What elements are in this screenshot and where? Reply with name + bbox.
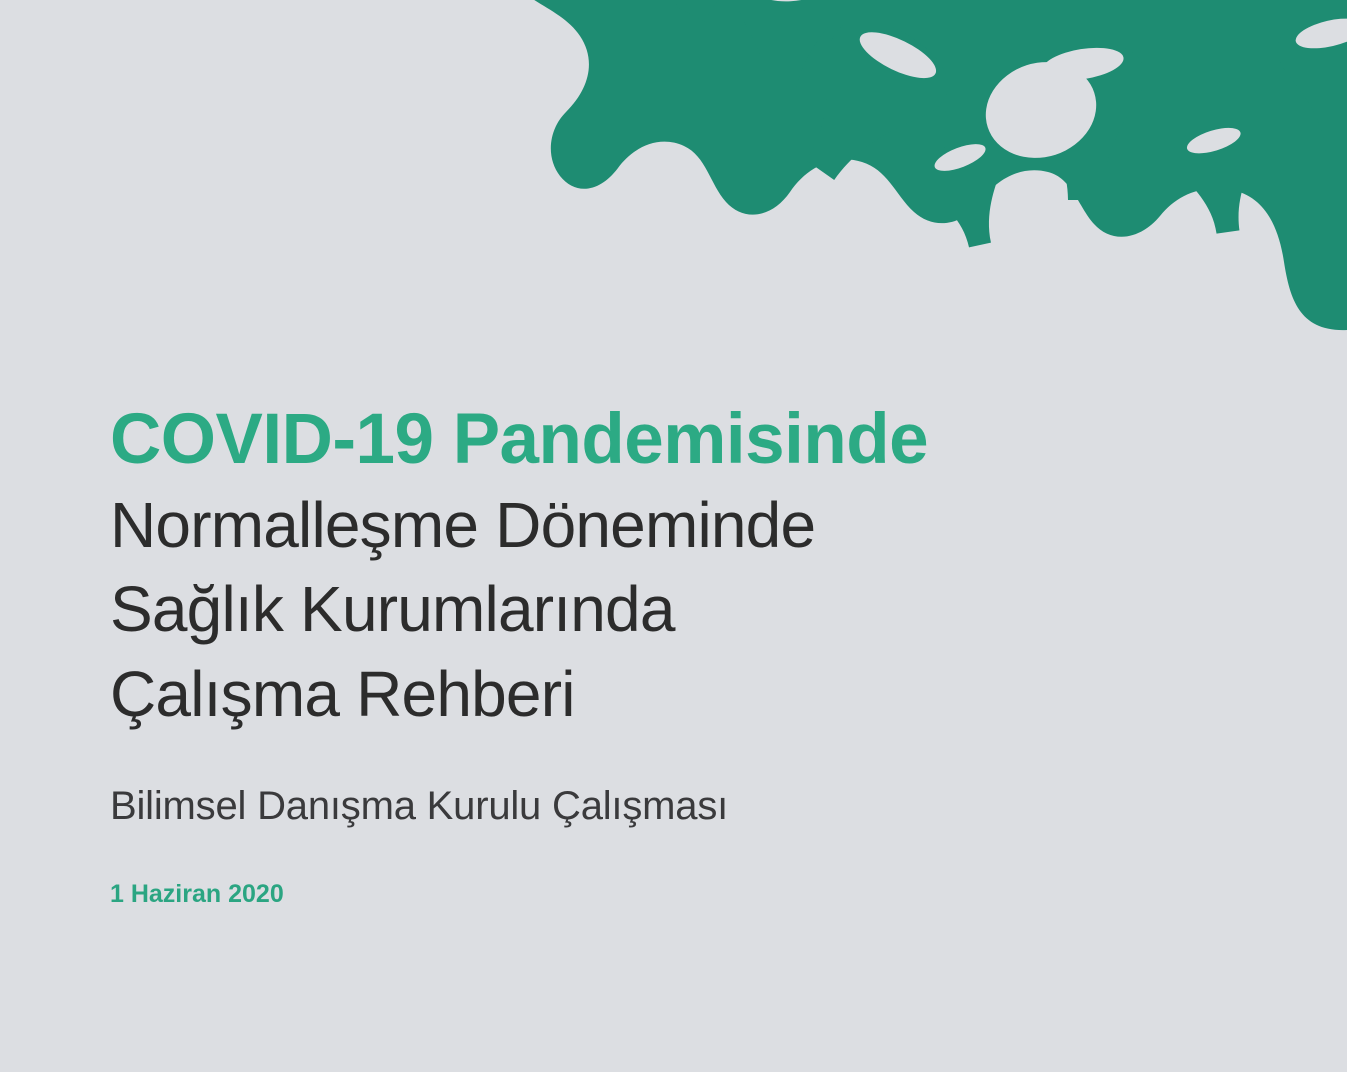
virus-spike-1 <box>636 0 811 41</box>
virus-spike-3 <box>766 0 963 205</box>
virus-spike-6 <box>1170 120 1269 238</box>
page-title: Normalleşme Döneminde Sağlık Kurumlarınd… <box>110 483 1210 736</box>
cover-text-block: COVID-19 Pandemisinde Normalleşme Dönemi… <box>110 404 1210 909</box>
document-cover-page: COVID-19 Pandemisinde Normalleşme Dönemi… <box>0 0 1347 1072</box>
page-title-line-3: Çalışma Rehberi <box>110 652 1210 736</box>
page-title-line-1: Normalleşme Döneminde <box>110 483 1210 567</box>
virus-spike-4 <box>1020 42 1145 200</box>
virus-spike-7 <box>1275 11 1347 154</box>
virus-body <box>520 0 1347 330</box>
virus-spike-2 <box>727 0 842 105</box>
publication-date: 1 Haziran 2020 <box>110 880 1210 909</box>
virus-spike-5 <box>917 135 1019 254</box>
page-title-line-2: Sağlık Kurumlarında <box>110 567 1210 651</box>
coronavirus-illustration <box>0 0 1347 420</box>
page-title-accent: COVID-19 Pandemisinde <box>110 404 1210 475</box>
virus-spike-head <box>973 48 1109 172</box>
page-subtitle: Bilimsel Danışma Kurulu Çalışması <box>110 782 1210 830</box>
